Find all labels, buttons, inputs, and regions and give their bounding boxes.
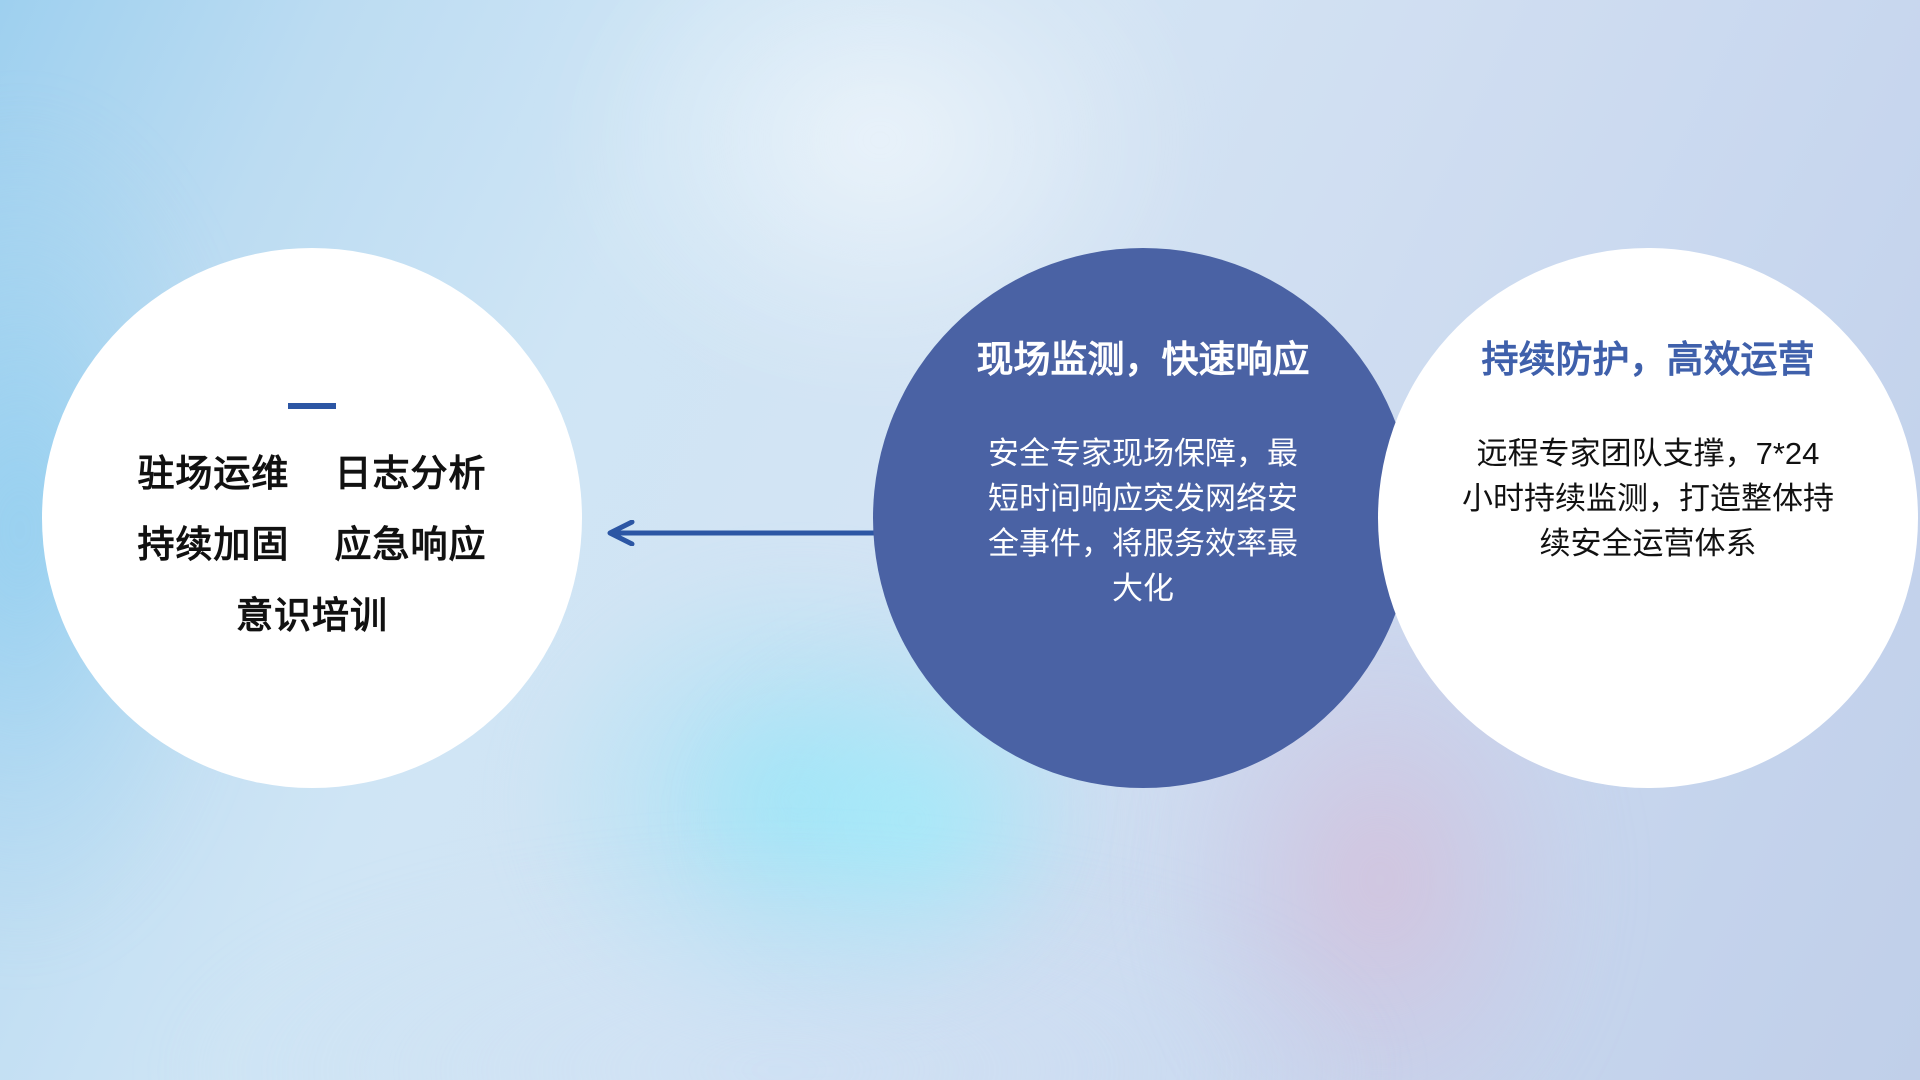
- keyword-line: 持续加固 应急响应: [137, 526, 486, 563]
- keyword-line: 驻场运维 日志分析: [137, 455, 486, 492]
- continuous-protection-circle-card[interactable]: 持续防护，高效运营 远程专家团队支撑，7*24小时持续监测，打造整体持续安全运营…: [1378, 248, 1918, 788]
- keyword-line: 意识培训: [236, 597, 388, 634]
- arrow-left-icon: [598, 520, 888, 546]
- background-glow-bottom: [180, 860, 1380, 1080]
- card-title: 持续防护，高效运营: [1482, 340, 1815, 381]
- onsite-monitoring-circle-card[interactable]: 现场监测，快速响应 安全专家现场保障，最短时间响应突发网络安全事件，将服务效率最…: [873, 248, 1413, 788]
- card-body: 远程专家团队支撑，7*24小时持续监测，打造整体持续安全运营体系: [1462, 431, 1834, 567]
- card-body: 安全专家现场保障，最短时间响应突发网络安全事件，将服务效率最大化: [978, 431, 1308, 612]
- keywords-circle-card[interactable]: 驻场运维 日志分析 持续加固 应急响应 意识培训: [42, 248, 582, 788]
- slide-canvas: 驻场运维 日志分析 持续加固 应急响应 意识培训 现场监测，快速响应 安全专家现…: [0, 0, 1920, 1080]
- dash-divider: [288, 403, 336, 409]
- card-title: 现场监测，快速响应: [977, 340, 1310, 381]
